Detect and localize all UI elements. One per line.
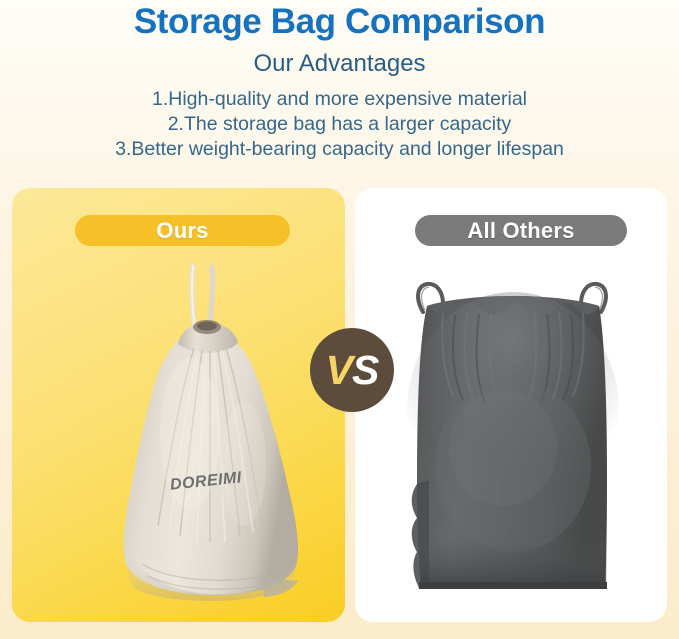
- badge-all-others: All Others: [415, 215, 627, 246]
- vs-badge: VS: [310, 328, 394, 412]
- vs-letter-s: S: [352, 328, 378, 412]
- panel-ours: Ours: [12, 188, 345, 622]
- advantages-list: 1.High-quality and more expensive materi…: [0, 78, 679, 162]
- bag-ours-image: DOREIMI: [112, 264, 312, 616]
- page-subtitle: Our Advantages: [0, 42, 679, 78]
- vs-letter-v: V: [326, 328, 352, 412]
- advantage-item-1: 1.High-quality and more expensive materi…: [0, 87, 679, 112]
- header: Storage Bag Comparison Our Advantages 1.…: [0, 0, 679, 186]
- bag-others-image: [385, 270, 640, 622]
- advantage-item-2: 2.The storage bag has a larger capacity: [0, 112, 679, 137]
- badge-ours: Ours: [75, 215, 290, 246]
- panel-all-others: All Others: [355, 188, 667, 622]
- advantage-item-3: 3.Better weight-bearing capacity and lon…: [0, 137, 679, 162]
- page-title: Storage Bag Comparison: [0, 0, 679, 42]
